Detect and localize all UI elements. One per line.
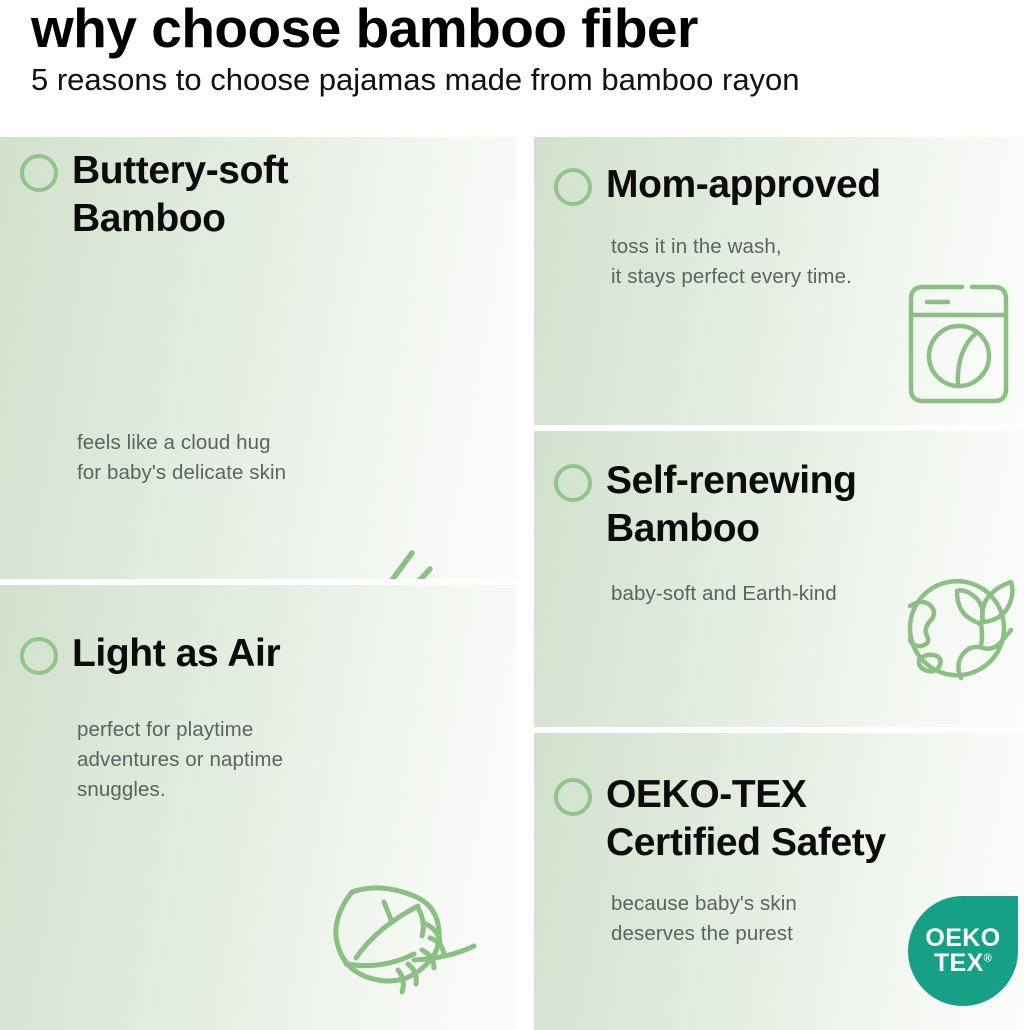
card-title-line1: Buttery-soft [72,147,288,195]
card-title-line1: OEKO-TEX [606,771,886,819]
card-self-renewing-bamboo: Self-renewing Bamboo baby-soft and Earth… [534,431,1024,727]
washing-machine-icon [906,283,1011,405]
hand-soft-touch-icon [340,545,490,579]
oeko-badge-line2: TEX® [934,951,992,977]
card-title-line2: Bamboo [72,195,288,243]
infographic-page: why choose bamboo fiber 5 reasons to cho… [0,0,1024,1030]
card-body-line2: for baby's delicate skin [77,458,477,488]
card-body-line1: perfect for playtime [77,715,477,745]
feather-icon [322,880,502,1015]
card-mom-approved: Mom-approved toss it in the wash, it sta… [534,137,1024,425]
card-heading-row: Buttery-soft Bamboo [20,147,460,244]
card-buttery-soft-bamboo: Buttery-soft Bamboo feels like a cloud h… [0,137,516,579]
card-body-line3: snuggles. [77,775,477,805]
bullet-ring-icon [20,154,58,192]
card-title-line2: Bamboo [606,505,857,553]
card-body: feels like a cloud hug for baby's delica… [77,428,477,488]
card-body-line1: feels like a cloud hug [77,428,477,458]
bullet-ring-icon [554,778,592,816]
bullet-ring-icon [20,637,58,675]
oeko-tex-badge: OEKO TEX® [908,896,1018,1006]
card-body: perfect for playtime adventures or napti… [77,715,477,805]
card-body-line1: toss it in the wash, [611,232,1024,262]
bullet-ring-icon [554,168,592,206]
card-body-line2: adventures or naptime [77,745,477,775]
card-title-line1: Light as Air [72,630,280,678]
card-title-line1: Self-renewing [606,457,857,505]
card-title-line1: Mom-approved [606,161,881,209]
card-title-line2: Certified Safety [606,819,886,867]
card-light-as-air: Light as Air perfect for playtime advent… [0,585,516,1030]
card-heading-row: Mom-approved [554,161,1004,209]
page-subtitle: 5 reasons to choose pajamas made from ba… [31,62,800,98]
header: why choose bamboo fiber 5 reasons to cho… [0,0,1024,137]
card-heading-row: Self-renewing Bamboo [554,457,1004,554]
card-oeko-tex-certified-safety: OEKO-TEX Certified Safety because baby's… [534,733,1024,1030]
card-heading-row: OEKO-TEX Certified Safety [554,771,1004,868]
registered-mark-icon: ® [984,953,993,965]
page-title: why choose bamboo fiber [31,0,698,60]
oeko-badge-text: TEX [934,949,984,977]
earth-leaf-icon [897,568,1022,693]
bullet-ring-icon [554,464,592,502]
card-heading-row: Light as Air [20,630,460,678]
oeko-badge-line1: OEKO [925,926,1000,952]
